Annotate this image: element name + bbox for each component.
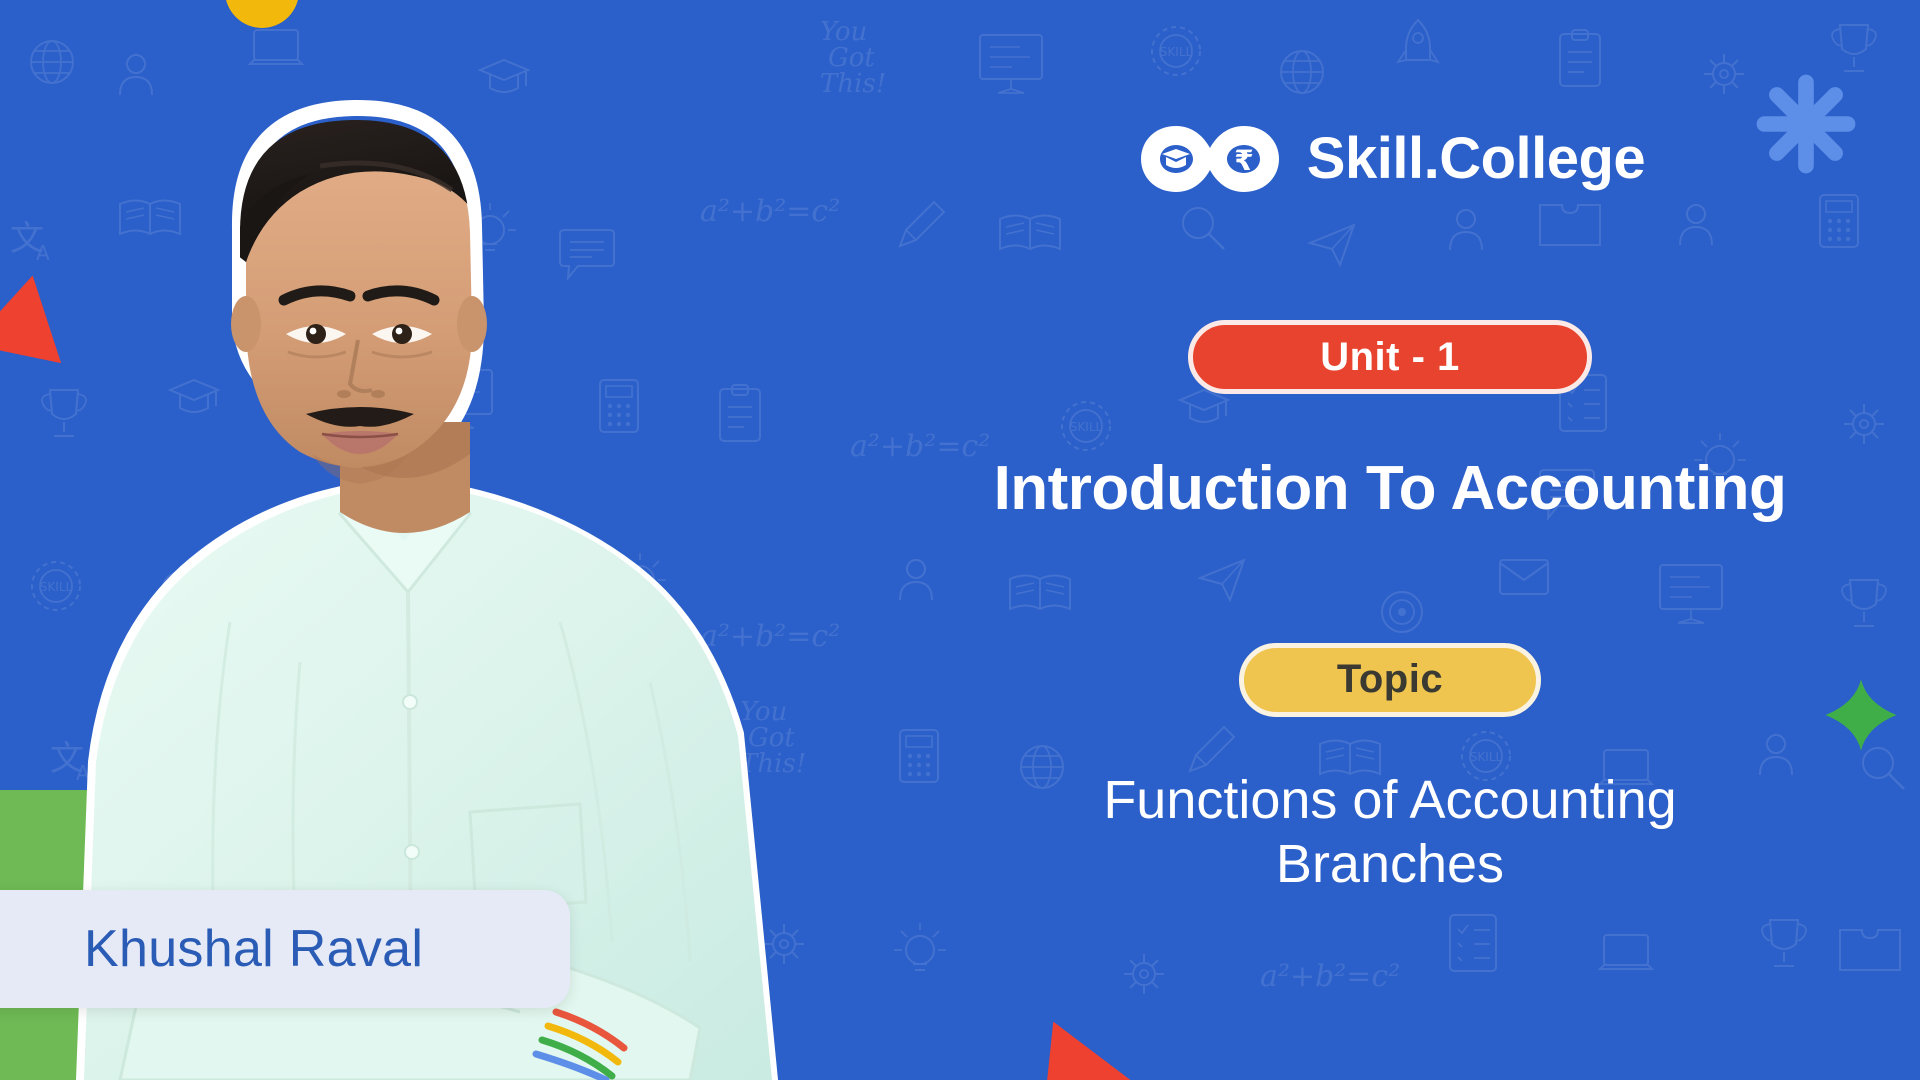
topic-badge[interactable]: Topic (1239, 643, 1541, 717)
topic-line-2: Branches (1276, 834, 1504, 894)
svg-text:₹: ₹ (1234, 144, 1253, 177)
brand-lockup[interactable]: ₹ Skill.College (1135, 118, 1645, 200)
unit-badge-label: Unit - 1 (1320, 335, 1460, 380)
presenter-name-tag: Khushal Raval (0, 890, 570, 1008)
topic-line-1: Functions of Accounting (1103, 770, 1676, 830)
yellow-circle-decoration (225, 0, 299, 28)
brand-name: Skill.College (1307, 130, 1645, 188)
lecture-thumbnail: SKILL (0, 0, 1920, 1080)
infinity-graduation-rupee-logo-icon: ₹ (1135, 118, 1285, 200)
topic-text: Functions of Accounting Branches (1103, 769, 1676, 896)
presenter-name: Khushal Raval (84, 919, 423, 979)
page-title: Introduction To Accounting (994, 456, 1787, 523)
topic-badge-label: Topic (1337, 657, 1443, 702)
red-triangle-left-decoration (0, 270, 74, 391)
unit-badge[interactable]: Unit - 1 (1188, 320, 1592, 394)
content-column: ₹ Skill.College Unit - 1 Introduction To… (860, 0, 1920, 1080)
